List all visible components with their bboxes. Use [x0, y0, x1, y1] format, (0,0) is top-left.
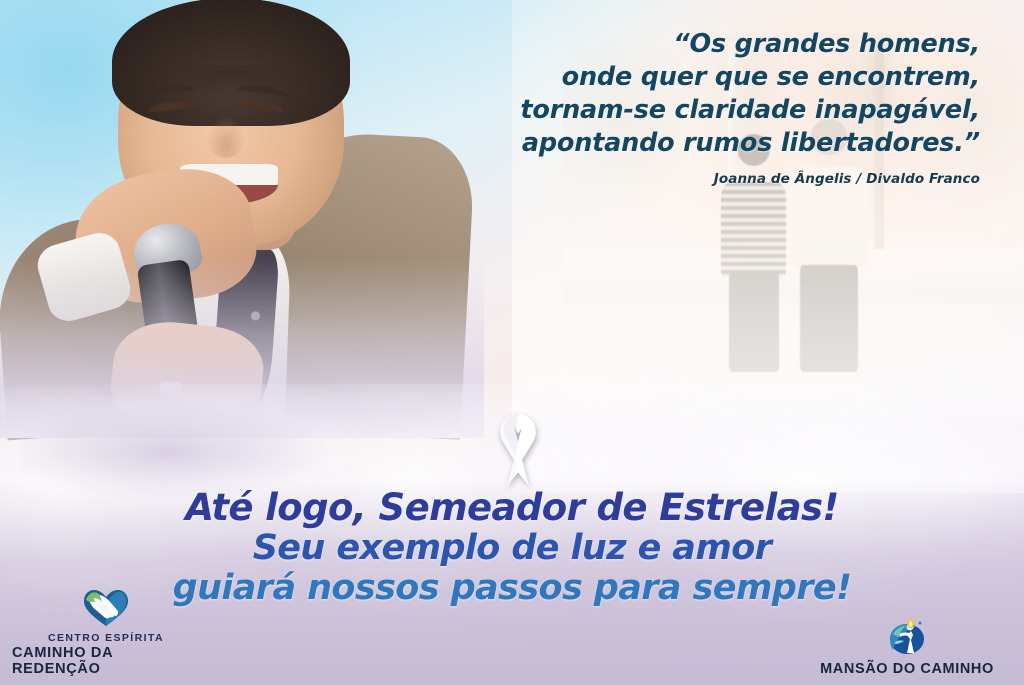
- quote-line-4: apontando rumos libertadores.”: [380, 127, 980, 160]
- headline-line-2: Seu exemplo de luz e amor: [0, 528, 1024, 568]
- hands-heart-icon: [82, 588, 130, 628]
- globe-figure-flame-icon: [886, 613, 928, 657]
- logo-right-line-2: MANSÃO DO CAMINHO: [820, 661, 994, 677]
- quote-block: “Os grandes homens, onde quer que se enc…: [380, 28, 980, 187]
- quote-line-3: tornam-se claridade inapagável,: [380, 94, 980, 127]
- poster-canvas: “Os grandes homens, onde quer que se enc…: [0, 0, 1024, 685]
- quote-line-1: “Os grandes homens,: [380, 28, 980, 61]
- portrait-nose: [206, 116, 246, 158]
- logo-mansao-do-caminho[interactable]: MANSÃO DO CAMINHO: [804, 613, 1010, 677]
- headline-line-1: Até logo, Semeador de Estrelas!: [0, 487, 1024, 528]
- logo-centro-espirita-caminho-da-redencao[interactable]: CENTRO ESPÍRITA CAMINHO DA REDENÇÃO: [12, 588, 200, 677]
- logo-left-line-1: CENTRO ESPÍRITA: [48, 632, 164, 644]
- quote-line-2: onde quer que se encontrem,: [380, 61, 980, 94]
- mourning-ribbon-icon: [487, 412, 549, 488]
- quote-attribution: Joanna de Ângelis / Divaldo Franco: [380, 171, 980, 187]
- portrait-hair: [112, 0, 350, 126]
- logo-left-line-2: CAMINHO DA REDENÇÃO: [12, 645, 200, 677]
